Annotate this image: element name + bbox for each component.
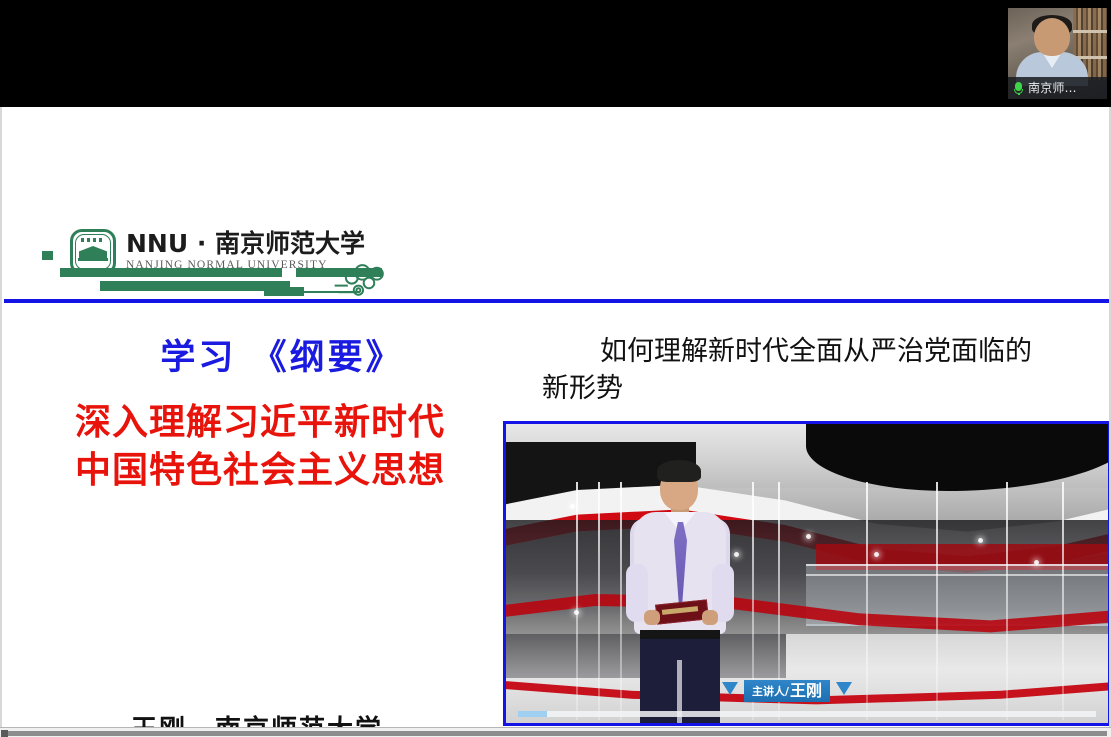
lower-third-name: 王刚 [790,683,822,699]
green-accent-bar [60,268,282,277]
lower-third-triangle-icon [722,682,738,695]
presenter-hair [657,460,701,482]
bottom-scrollbar-left-cap[interactable] [1,730,8,737]
header-divider-rule [4,299,1111,303]
presenter-affiliation: 王刚 南京师范大学 [42,709,472,727]
green-accent-square [42,251,53,260]
webcam-name-label: 南京师... [1008,77,1107,99]
lower-third-name-banner: 主讲人/ 王刚 [744,680,830,702]
slide-subtitle-line-2: 中国特色社会主义思想 [30,447,490,495]
bottom-scrollbar[interactable] [0,727,1111,737]
lower-third-triangle-icon [836,682,852,695]
screen-root: 南京师... NNU · 南京师范大学 NANJING NORMAL UNIVE… [0,0,1111,737]
university-name-cn: NNU · 南京师范大学 [126,231,366,257]
presenter-hand [644,610,660,625]
glass-column [576,482,578,720]
spotlight [874,552,879,557]
green-accent-bar [100,281,290,291]
cloud-motif-icon [332,259,398,299]
glass-column [866,482,868,720]
slide-title: 学习 《纲要》 [72,329,492,380]
presentation-slide: NNU · 南京师范大学 NANJING NORMAL UNIVERSITY [0,107,1111,727]
glass-column [598,482,600,720]
spotlight [978,538,983,543]
spotlight [734,552,739,557]
webcam-thumbnail[interactable]: 南京师... [1008,8,1107,99]
glass-column [936,482,938,720]
university-logotype: NNU · 南京师范大学 NANJING NORMAL UNIVERSITY [126,231,366,271]
presenter-hand [702,610,718,625]
video-progress-fill [518,711,547,717]
spotlight [574,610,579,615]
shelf-line [1073,30,1107,33]
slide-subtitle: 深入理解习近平新时代 中国特色社会主义思想 [30,399,490,494]
participant-name: 南京师... [1028,82,1077,94]
bottom-scrollbar-thumb[interactable] [2,731,1107,736]
embedded-video-player[interactable]: 主讲人/ 王刚 [503,421,1111,726]
video-progress-track[interactable] [518,711,1096,717]
glass-column [1006,482,1008,720]
webcam-person-head [1034,18,1070,56]
topic-heading: 如何理解新时代全面从严治党面临的新形势 [542,333,1042,408]
slide-subtitle-line-1: 深入理解习近平新时代 [30,399,490,447]
presenter-belt [640,630,720,639]
glass-column [1062,482,1064,720]
spotlight [570,504,575,509]
conference-topbar: 南京师... [0,0,1111,107]
microphone-icon [1014,82,1023,95]
spotlight [806,534,811,539]
spotlight [1034,560,1039,565]
lower-third-role: 主讲人/ [752,686,789,697]
glass-column [620,482,622,720]
